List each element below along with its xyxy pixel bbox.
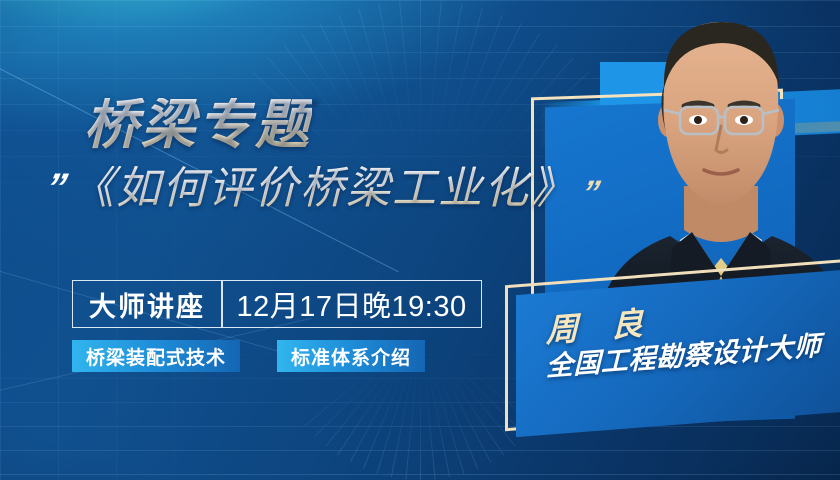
grid-line — [420, 330, 478, 469]
grid-line — [420, 330, 504, 455]
speaker-info: 周 良 全国工程勘察设计大师 — [516, 269, 840, 437]
quote-close-icon: ” — [578, 176, 602, 210]
info-bar: 大师讲座 12月17日晚19:30 — [72, 280, 482, 328]
lecture-label: 大师讲座 — [73, 281, 221, 327]
tag-item[interactable]: 桥梁装配式技术 — [72, 340, 240, 372]
grid-line — [420, 330, 491, 463]
grid-line — [420, 330, 516, 447]
quote-open-icon: ” — [42, 168, 71, 208]
left-grid — [0, 0, 230, 480]
webinar-poster: 桥梁专题 ” 《如何评价桥梁工业化》 ” 大师讲座 12月17日晚19:30 桥… — [0, 0, 840, 480]
page-title: 桥梁专题 — [84, 98, 312, 152]
subtitle: 《如何评价桥梁工业化》 — [70, 166, 576, 212]
tag-list: 桥梁装配式技术 标准体系介绍 — [72, 340, 425, 372]
grid-line — [420, 330, 464, 474]
tag-item[interactable]: 标准体系介绍 — [277, 340, 425, 372]
datetime-label: 12月17日晚19:30 — [223, 281, 481, 327]
subtitle-row: ” 《如何评价桥梁工业化》 ” — [46, 166, 599, 212]
